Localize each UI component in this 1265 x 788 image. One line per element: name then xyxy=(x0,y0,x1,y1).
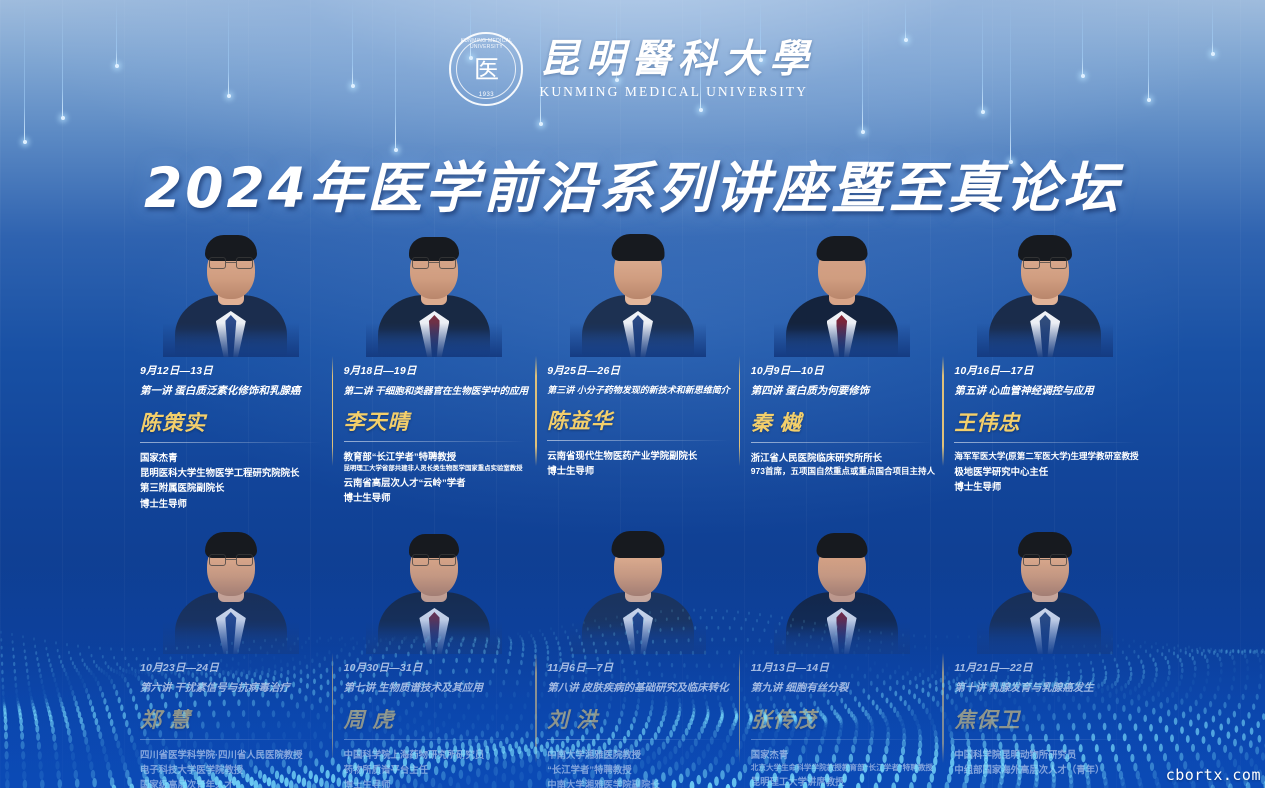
glasses-icon xyxy=(209,257,253,269)
speaker-credentials: 浙江省人民医院临床研究所所长973首席，五项国自然重点或重点国合项目主持人 xyxy=(751,450,933,479)
credential-line: 博士生导师 xyxy=(344,777,526,788)
speaker-photo xyxy=(954,529,1136,654)
card-divider xyxy=(942,653,944,763)
speaker-name: 周 虎 xyxy=(344,704,526,734)
lecture-date: 11月13日—14日 xyxy=(751,660,933,675)
speaker-card[interactable]: 11月6日—7日第八讲 皮肤疾病的基础研究及临床转化刘 洪中南大学湘雅医院教授“… xyxy=(535,529,739,788)
lecture-date: 11月6日—7日 xyxy=(547,660,729,675)
speaker-card[interactable]: 9月18日—19日第二讲 干细胞和类器官在生物医学中的应用李天晴教育部“长江学者… xyxy=(332,232,536,511)
credential-line: 电子科技大学医学院教授 xyxy=(140,762,322,777)
page-title: 2024年医学前沿系列讲座暨至真论坛 xyxy=(0,143,1265,223)
speaker-name: 郑 慧 xyxy=(140,704,322,734)
card-divider xyxy=(535,356,537,466)
speaker-credentials: 海军军医大学(原第二军医大学)生理学教研室教授极地医学研究中心主任博士生导师 xyxy=(954,450,1136,494)
card-divider xyxy=(942,356,944,466)
lecture-date: 11月21日—22日 xyxy=(954,660,1136,675)
credential-line: 国家杰青 xyxy=(140,450,322,465)
speaker-name: 秦 樾 xyxy=(751,407,933,437)
glasses-icon xyxy=(1023,257,1067,269)
lecture-title: 第九讲 细胞有丝分裂 xyxy=(751,680,933,695)
university-name-cn: 昆明醫科大學 xyxy=(539,38,815,81)
speaker-card[interactable]: 11月21日—22日第十讲 乳腺发育与乳腺癌发生焦保卫中国科学院昆明动物所研究员… xyxy=(942,529,1146,788)
name-underline xyxy=(547,739,729,740)
speaker-credentials: 国家杰青北京大学生命科学学院教授教育部“长江学者”特聘教授昆明理工大学讲席教授干… xyxy=(751,747,933,788)
glasses-icon xyxy=(412,257,456,269)
speakers-row-2: 10月23日—24日第六讲 干扰素信号与抗病毒治疗郑 慧四川省医学科学院·四川省… xyxy=(128,529,1146,788)
watermark: cbortx.com xyxy=(1166,766,1261,784)
credential-line: 国家杰青 xyxy=(751,747,933,762)
lecture-date: 10月30日—31日 xyxy=(344,660,526,675)
name-underline xyxy=(140,739,322,740)
speaker-credentials: 四川省医学科学院·四川省人民医院教授电子科技大学医学院教授国家级高层次青年人才博… xyxy=(140,747,322,788)
credential-line: 极地医学研究中心主任 xyxy=(954,464,1136,479)
speaker-credentials: 云南省现代生物医药产业学院副院长博士生导师 xyxy=(547,448,729,478)
credential-line: 中国科学院上海药物研究所研究员 xyxy=(344,747,526,762)
lecture-title: 第二讲 干细胞和类器官在生物医学中的应用 xyxy=(344,383,526,397)
glasses-icon xyxy=(209,554,253,566)
credential-line: 中组部国家海外高层次人才（青年） xyxy=(954,762,1136,777)
credential-line: 云南省高层次人才“云岭”学者 xyxy=(344,475,526,490)
credential-line: 药物所质谱平台主任 xyxy=(344,762,526,777)
speaker-name: 陈策实 xyxy=(140,407,322,437)
lecture-date: 9月12日—13日 xyxy=(140,363,322,378)
speaker-card[interactable]: 10月30日—31日第七讲 生物质谱技术及其应用周 虎中国科学院上海药物研究所研… xyxy=(332,529,536,788)
seal-arc-text: KUNMING MEDICAL UNIVERSITY xyxy=(451,38,521,50)
name-underline xyxy=(140,442,322,443)
credential-line: 浙江省人民医院临床研究所所长 xyxy=(751,450,933,465)
speaker-credentials: 中南大学湘雅医院教授“长江学者”特聘教授中南大学湘雅医学院副院长湖南省免疫学会副… xyxy=(547,747,729,788)
lecture-title: 第一讲 蛋白质泛素化修饰和乳腺癌 xyxy=(140,383,322,398)
credential-line: 973首席，五项国自然重点或重点国合项目主持人 xyxy=(751,465,933,479)
credential-line: 中国科学院昆明动物所研究员 xyxy=(954,747,1136,762)
credential-line: 昆明理工大学省部共建非人灵长类生物医学国家重点实验室教授 xyxy=(344,464,526,474)
seal-year: 1933 xyxy=(451,92,521,98)
speaker-photo xyxy=(751,529,933,654)
credential-line: 昆明理工大学讲席教授 xyxy=(751,774,933,788)
name-underline xyxy=(954,739,1136,740)
name-underline xyxy=(751,442,933,443)
speaker-photo xyxy=(140,232,322,357)
speaker-card[interactable]: 10月16日—17日第五讲 心血管神经调控与应用王伟忠海军军医大学(原第二军医大… xyxy=(942,232,1146,511)
speaker-photo xyxy=(344,529,526,654)
speaker-photo xyxy=(547,232,729,357)
credential-line: 博士生导师 xyxy=(344,490,526,505)
speaker-photo xyxy=(547,529,729,654)
credential-line: 教育部“长江学者”特聘教授 xyxy=(344,449,526,464)
speaker-card[interactable]: 10月9日—10日第四讲 蛋白质为何要修饰秦 樾浙江省人民医院临床研究所所长97… xyxy=(739,232,943,511)
poster-header: KUNMING MEDICAL UNIVERSITY 医 1933 昆明醫科大學… xyxy=(0,32,1265,106)
speaker-credentials: 中国科学院昆明动物所研究员中组部国家海外高层次人才（青年） xyxy=(954,747,1136,777)
lecture-title: 第十讲 乳腺发育与乳腺癌发生 xyxy=(954,680,1136,695)
name-underline xyxy=(344,441,526,442)
name-underline xyxy=(344,739,526,740)
speaker-name: 王伟忠 xyxy=(954,407,1136,437)
glasses-icon xyxy=(412,554,456,566)
lecture-title: 第三讲 小分子药物发现的新技术和新思维简介 xyxy=(547,383,729,396)
lecture-date: 10月16日—17日 xyxy=(954,363,1136,378)
glasses-icon xyxy=(1023,554,1067,566)
university-name-en: KUNMING MEDICAL UNIVERSITY xyxy=(539,84,808,100)
lecture-title: 第五讲 心血管神经调控与应用 xyxy=(954,383,1136,398)
credential-line: 四川省医学科学院·四川省人民医院教授 xyxy=(140,747,322,762)
card-divider xyxy=(332,356,334,466)
speaker-card[interactable]: 10月23日—24日第六讲 干扰素信号与抗病毒治疗郑 慧四川省医学科学院·四川省… xyxy=(128,529,332,788)
lecture-title: 第七讲 生物质谱技术及其应用 xyxy=(344,680,526,695)
speaker-name: 陈益华 xyxy=(547,405,729,435)
speaker-card[interactable]: 11月13日—14日第九讲 细胞有丝分裂张传茂国家杰青北京大学生命科学学院教授教… xyxy=(739,529,943,788)
name-underline xyxy=(751,739,933,740)
card-divider xyxy=(739,653,741,763)
card-divider xyxy=(332,653,334,763)
lecture-date: 9月25日—26日 xyxy=(547,363,729,378)
name-underline xyxy=(547,440,729,441)
credential-line: “长江学者”特聘教授 xyxy=(547,762,729,777)
speaker-name: 李天晴 xyxy=(344,406,526,436)
speaker-card[interactable]: 9月25日—26日第三讲 小分子药物发现的新技术和新思维简介陈益华云南省现代生物… xyxy=(535,232,739,511)
credential-line: 北京大学生命科学学院教授教育部“长江学者”特聘教授 xyxy=(751,762,933,774)
credential-line: 海军军医大学(原第二军医大学)生理学教研室教授 xyxy=(954,450,1136,464)
lecture-title: 第六讲 干扰素信号与抗病毒治疗 xyxy=(140,680,322,695)
speaker-card[interactable]: 9月12日—13日第一讲 蛋白质泛素化修饰和乳腺癌陈策实国家杰青昆明医科大学生物… xyxy=(128,232,332,511)
credential-line: 博士生导师 xyxy=(954,479,1136,494)
speaker-photo xyxy=(751,232,933,357)
speaker-credentials: 国家杰青昆明医科大学生物医学工程研究院院长第三附属医院副院长博士生导师 xyxy=(140,450,322,511)
card-divider xyxy=(739,356,741,466)
speaker-photo xyxy=(140,529,322,654)
speaker-photo xyxy=(954,232,1136,357)
credential-line: 中南大学湘雅医学院副院长 xyxy=(547,777,729,788)
credential-line: 云南省现代生物医药产业学院副院长 xyxy=(547,448,729,463)
seal-glyph: 医 xyxy=(468,49,504,89)
university-name-block: 昆明醫科大學 KUNMING MEDICAL UNIVERSITY xyxy=(539,38,815,101)
speaker-name: 张传茂 xyxy=(751,704,933,734)
lecture-title: 第八讲 皮肤疾病的基础研究及临床转化 xyxy=(547,680,729,695)
name-underline xyxy=(954,442,1136,443)
credential-line: 博士生导师 xyxy=(140,496,322,511)
lecture-title: 第四讲 蛋白质为何要修饰 xyxy=(751,383,933,398)
credential-line: 国家级高层次青年人才 xyxy=(140,777,322,788)
speakers-row-1: 9月12日—13日第一讲 蛋白质泛素化修饰和乳腺癌陈策实国家杰青昆明医科大学生物… xyxy=(128,232,1146,511)
credential-line: 中南大学湘雅医院教授 xyxy=(547,747,729,762)
speakers-grid: 9月12日—13日第一讲 蛋白质泛素化修饰和乳腺癌陈策实国家杰青昆明医科大学生物… xyxy=(128,232,1146,788)
credential-line: 昆明医科大学生物医学工程研究院院长 xyxy=(140,465,322,480)
credential-line: 第三附属医院副院长 xyxy=(140,480,322,495)
credential-line: 博士生导师 xyxy=(547,463,729,478)
poster-canvas: KUNMING MEDICAL UNIVERSITY 医 1933 昆明醫科大學… xyxy=(0,0,1265,788)
speaker-name: 刘 洪 xyxy=(547,704,729,734)
lecture-date: 10月9日—10日 xyxy=(751,363,933,378)
lecture-date: 9月18日—19日 xyxy=(344,363,526,378)
speaker-photo xyxy=(344,232,526,357)
university-seal-icon: KUNMING MEDICAL UNIVERSITY 医 1933 xyxy=(449,32,523,106)
card-divider xyxy=(535,653,537,763)
lecture-date: 10月23日—24日 xyxy=(140,660,322,675)
speaker-credentials: 中国科学院上海药物研究所研究员药物所质谱平台主任博士生导师 xyxy=(344,747,526,788)
speaker-credentials: 教育部“长江学者”特聘教授昆明理工大学省部共建非人灵长类生物医学国家重点实验室教… xyxy=(344,449,526,505)
speaker-name: 焦保卫 xyxy=(954,704,1136,734)
